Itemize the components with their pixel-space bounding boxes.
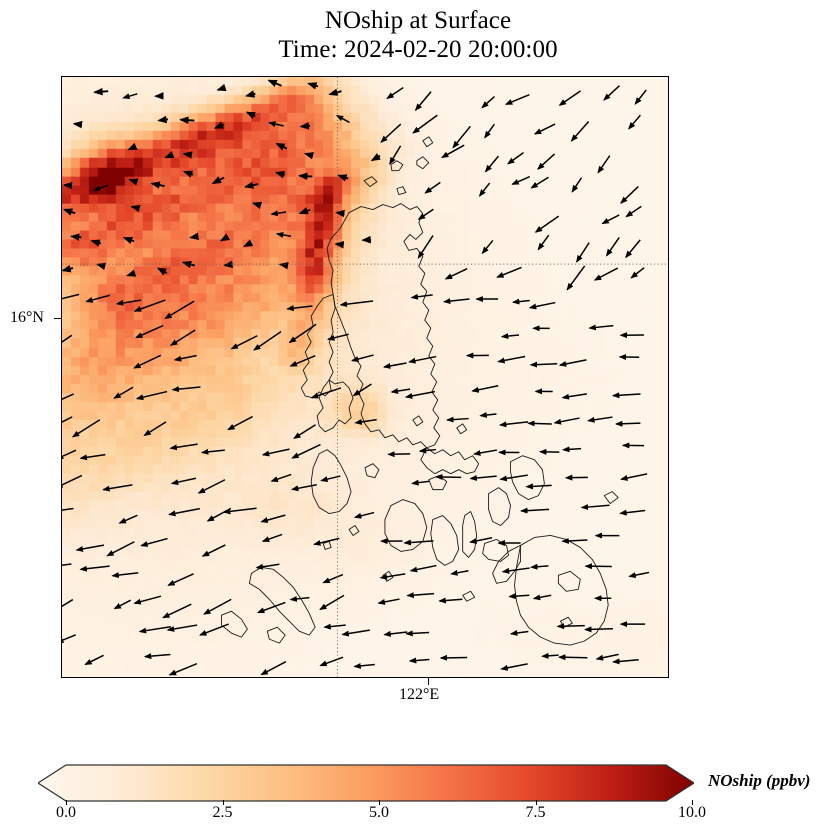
colorbar-tick-label-3: 7.5 — [526, 804, 546, 822]
colorbar — [38, 762, 694, 804]
timestamp-subtitle: Time: 2024-02-20 20:00:00 — [0, 35, 836, 64]
colorbar-tick-2 — [379, 800, 380, 805]
lon-tick-122e — [428, 678, 429, 685]
lat-tick-16n — [54, 318, 61, 319]
colorbar-tick-3 — [536, 800, 537, 805]
gridline-layer — [62, 77, 668, 677]
colorbar-tick-label-4: 10.0 — [678, 804, 706, 822]
colorbar-tick-4 — [692, 800, 693, 805]
lon-tick-label-122e: 122°E — [399, 686, 439, 704]
colorbar-tick-0 — [66, 800, 67, 805]
colorbar-tick-1 — [223, 800, 224, 805]
colorbar-tick-label-0: 0.0 — [56, 804, 76, 822]
lat-tick-label-16n: 16°N — [10, 309, 44, 327]
colorbar-tick-labels: 0.02.55.07.510.0 — [0, 804, 836, 828]
colorbar-label: NOship (ppbv) — [708, 771, 810, 791]
page-title: NOship at Surface — [0, 6, 836, 35]
colorbar-tick-label-1: 2.5 — [213, 804, 233, 822]
colorbar-tick-label-2: 5.0 — [369, 804, 389, 822]
colorbar-gradient-bar — [38, 765, 694, 801]
map-axes — [61, 76, 669, 678]
figure-title-block: NOship at Surface Time: 2024-02-20 20:00… — [0, 6, 836, 64]
